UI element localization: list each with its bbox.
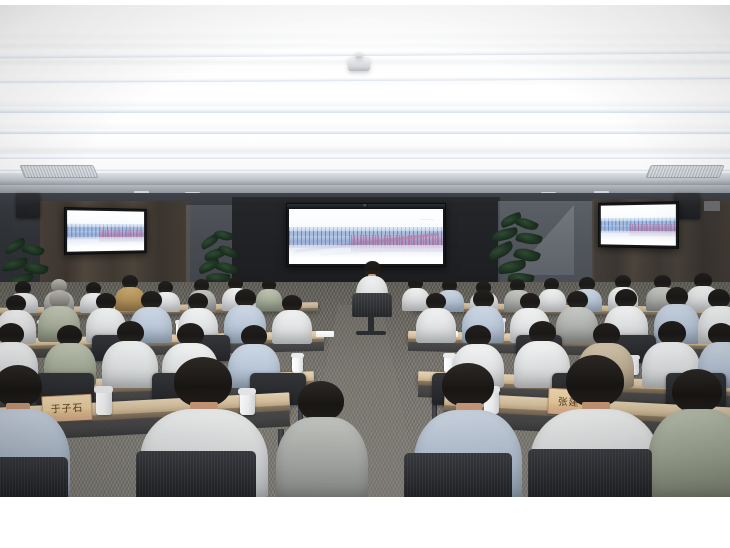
ceiling <box>0 5 730 201</box>
main-led-wall[interactable]: ——— <box>286 203 446 267</box>
main-screen-surface: ——— <box>289 209 443 264</box>
cup-front-1 <box>96 391 112 415</box>
light-tube-5 <box>0 155 730 159</box>
side-screen-left-surface <box>67 210 144 252</box>
chair-front-r2[interactable] <box>528 449 652 497</box>
attendee-front-l3 <box>276 381 368 497</box>
side-screen-right[interactable] <box>598 201 679 249</box>
chair-front-l2[interactable] <box>136 451 256 497</box>
wall-sign-right <box>704 201 720 211</box>
side-screen-left[interactable] <box>64 207 147 255</box>
cup-lid-row2-2 <box>291 353 304 358</box>
ceiling-projector-mount <box>355 52 363 58</box>
chair-feet-front-center <box>356 331 386 335</box>
light-tube-4 <box>0 129 730 134</box>
side-right-foreground <box>601 231 676 246</box>
light-tube-3 <box>0 107 730 113</box>
screenshot-root: ——— <box>0 0 730 548</box>
cup-lid-front-1 <box>94 386 113 393</box>
side-screen-right-surface <box>601 204 676 245</box>
side-left-foreground <box>67 237 144 252</box>
main-screen-camera-icon <box>363 203 368 208</box>
ceiling-vent-left <box>19 165 98 178</box>
ceiling-vent-right <box>645 165 724 178</box>
attendee-mid-r1 <box>416 293 456 343</box>
light-tube-6 <box>0 168 730 171</box>
cup-row2-2 <box>292 357 303 373</box>
screen-watermark-text: ——— <box>421 216 434 221</box>
conference-room-photo: ——— <box>0 5 730 497</box>
ceiling-soffit-front <box>0 173 730 185</box>
attendee-front-r3 <box>648 369 730 497</box>
chair-front-center[interactable] <box>352 293 392 317</box>
chair-front-l1[interactable] <box>0 457 68 497</box>
speaker-left <box>16 193 40 218</box>
chair-front-r1[interactable] <box>404 453 512 497</box>
paper-mid-1 <box>316 331 334 337</box>
ceiling-projector <box>348 57 370 71</box>
